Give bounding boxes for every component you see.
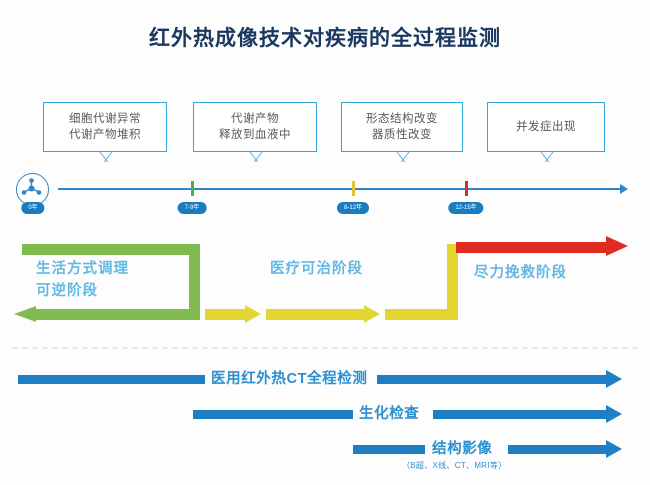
timeline-axis — [58, 188, 624, 190]
detection-row-1-arrowhead-icon — [606, 405, 622, 423]
phase-label-green-line1: 生活方式调理 — [36, 258, 129, 280]
stage-box-0-line1: 细胞代谢异常 — [69, 111, 141, 127]
phase-green-bottom-bar — [36, 309, 200, 320]
stage-box-1-line2: 释放到血液中 — [219, 127, 291, 143]
stage-box-2-line1: 形态结构改变 — [366, 111, 438, 127]
timeline-badge-2: 8-12年 — [337, 202, 369, 214]
detection-row-1-bar-left — [193, 410, 353, 419]
timeline-arrowhead-icon — [620, 184, 628, 194]
detection-row-1-bar-right — [433, 410, 608, 419]
stage-box-2: 形态结构改变 器质性改变 — [341, 102, 463, 152]
timeline-badge-0: 0年 — [21, 202, 44, 214]
section-divider — [12, 347, 638, 349]
detection-row-0-label: 医用红外热CT全程检测 — [211, 368, 367, 390]
stage-box-1-line1: 代谢产物 — [231, 111, 279, 127]
detection-row-2: 结构影像 （B超、X线、CT、MRI等） — [0, 438, 650, 460]
detection-row-0-arrowhead-icon — [606, 370, 622, 388]
phase-red-arrowhead-icon — [606, 236, 628, 256]
timeline-tick-3 — [465, 181, 468, 196]
phase-label-green-line2: 可逆阶段 — [36, 280, 129, 302]
infographic-page: 红外热成像技术对疾病的全过程监测 细胞代谢异常 代谢产物堆积 代谢产物 释放到血… — [0, 0, 650, 485]
timeline-badge-1: 7-9年 — [178, 202, 207, 214]
phase-yellow-seg-1 — [266, 309, 366, 320]
timeline-badge-3: 12-15年 — [448, 202, 483, 214]
stage-box-1: 代谢产物 释放到血液中 — [193, 102, 317, 152]
molecule-icon-svg — [17, 174, 46, 203]
detection-row-2-bar-left — [353, 445, 425, 454]
detection-row-2-arrowhead-icon — [606, 440, 622, 458]
detection-row-1-label: 生化检查 — [359, 403, 419, 425]
phase-label-red: 尽力挽救阶段 — [474, 262, 567, 284]
phase-green-top-bar — [22, 244, 200, 255]
phase-yellow-seg-0 — [205, 309, 247, 320]
page-title: 红外热成像技术对疾病的全过程监测 — [0, 22, 650, 52]
phase-yellow-riser — [447, 244, 458, 320]
stage-box-2-line2: 器质性改变 — [372, 127, 432, 143]
phase-yellow-arrowhead-0-icon — [245, 305, 261, 323]
phase-label-green: 生活方式调理 可逆阶段 — [36, 258, 129, 302]
phase-yellow-arrowhead-1-icon — [364, 305, 380, 323]
detection-row-0: 医用红外热CT全程检测 — [0, 368, 650, 390]
phase-label-yellow: 医疗可治阶段 — [270, 258, 363, 280]
detection-row-0-bar-right — [377, 375, 608, 384]
phase-green-arrowhead-icon — [14, 306, 36, 322]
detection-row-2-sublabel: （B超、X线、CT、MRI等） — [402, 460, 507, 471]
detection-row-2-label: 结构影像 — [432, 438, 492, 460]
detection-row-0-bar-left — [18, 375, 205, 384]
stage-box-0-line2: 代谢产物堆积 — [69, 127, 141, 143]
stage-box-3-line1: 并发症出现 — [516, 119, 576, 135]
timeline-tick-2 — [352, 181, 355, 196]
detection-row-1: 生化检查 — [0, 403, 650, 425]
phase-yellow-seg-2 — [385, 309, 451, 320]
stage-box-0: 细胞代谢异常 代谢产物堆积 — [43, 102, 167, 152]
timeline-tick-1 — [191, 181, 194, 196]
phase-red-bar — [456, 242, 611, 253]
detection-row-2-bar-right — [508, 445, 608, 454]
stage-box-3: 并发症出现 — [487, 102, 605, 152]
